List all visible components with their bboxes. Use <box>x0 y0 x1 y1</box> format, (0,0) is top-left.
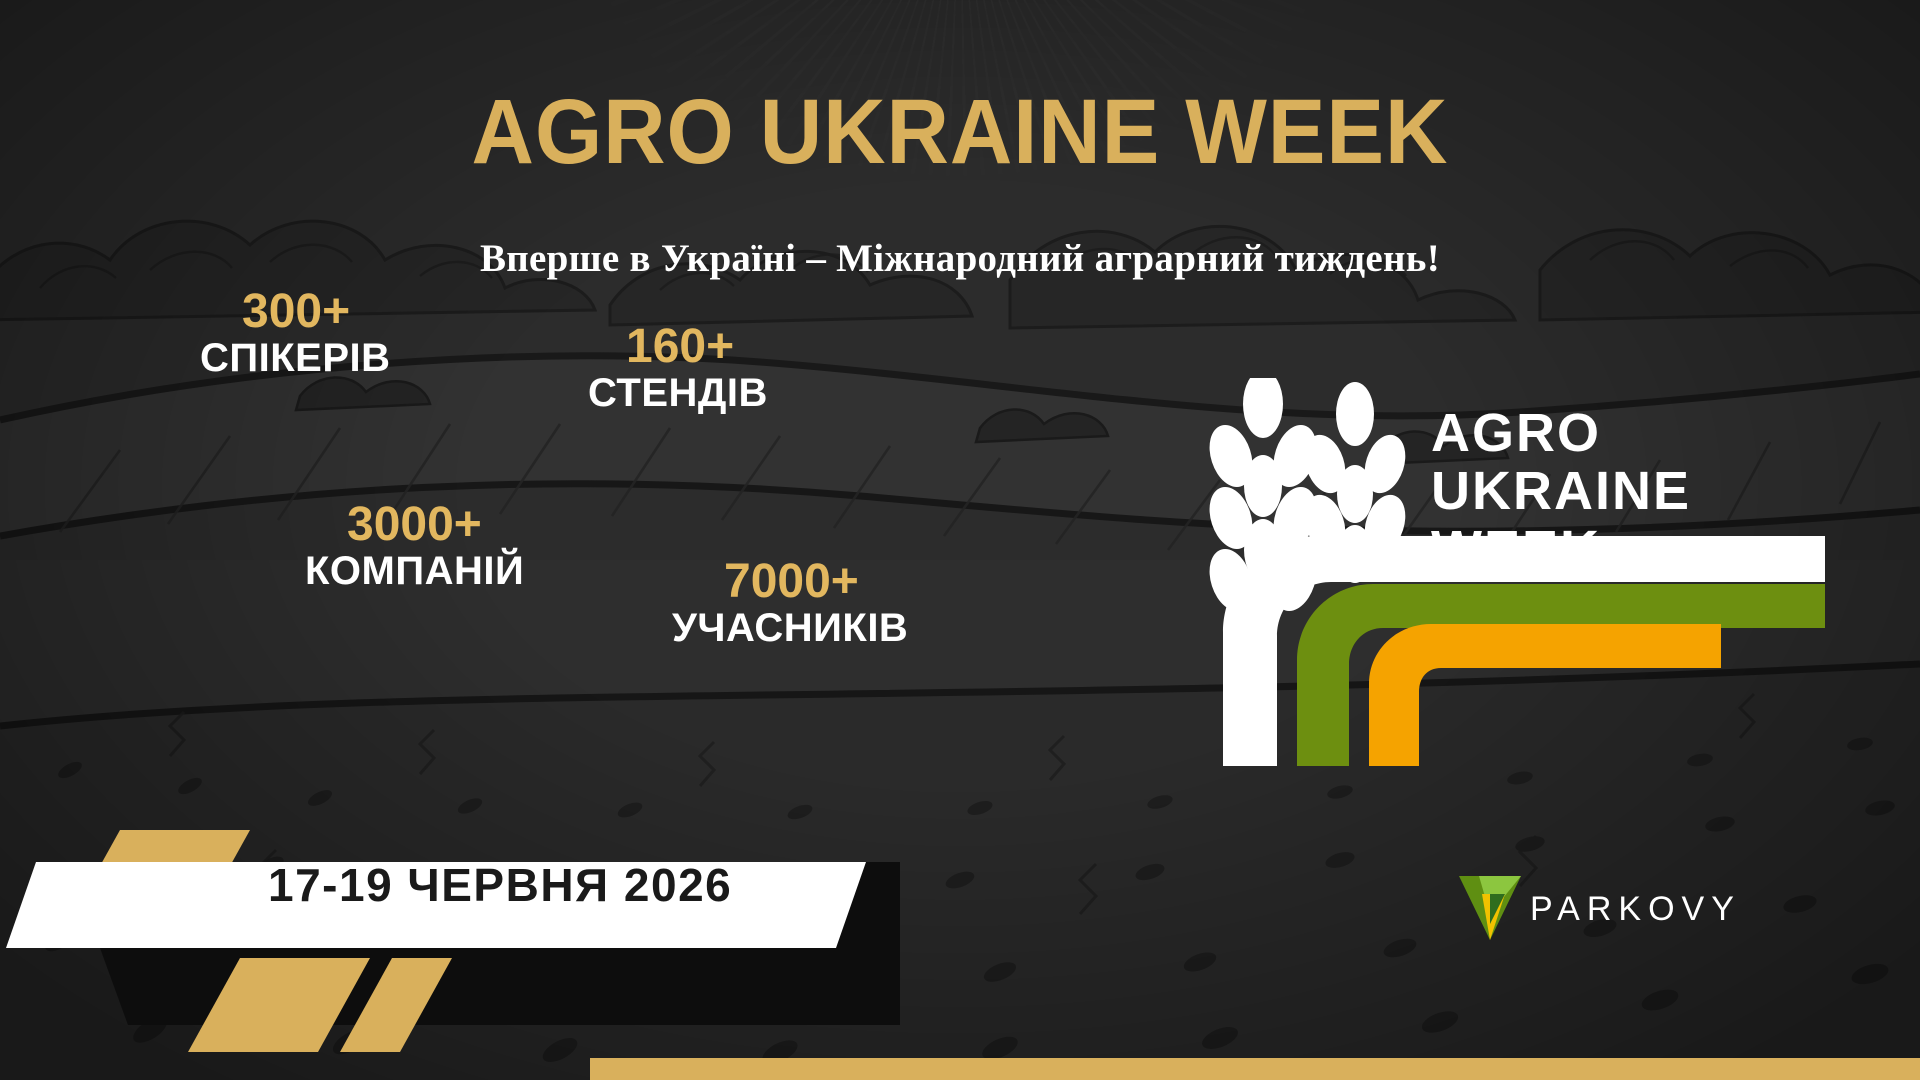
stat-companies: 3000+ КОМПАНІЙ <box>305 500 524 592</box>
logo-wordmark: AGRO UKRAINE WEEK <box>1431 404 1691 579</box>
stat-stands: 160+ СТЕНДІВ <box>588 322 768 414</box>
page-title: AGRO UKRAINE WEEK <box>58 86 1863 178</box>
parkovy-venue-logo: PARKOVY <box>1455 872 1815 952</box>
parkovy-triangle-icon <box>1455 872 1525 944</box>
stat-label: СПІКЕРІВ <box>200 337 391 379</box>
stat-visitors: 7000+ УЧАСНИКІВ <box>672 557 908 649</box>
poster-canvas: AGRO UKRAINE WEEK Вперше в Україні – Між… <box>0 0 1920 1080</box>
stat-label: УЧАСНИКІВ <box>672 607 908 649</box>
logo-line-week: WEEK <box>1431 521 1691 579</box>
agro-ukraine-week-logo: AGRO UKRAINE WEEK <box>1205 378 1825 798</box>
stat-value: 3000+ <box>347 500 524 550</box>
parkovy-wordmark: PARKOVY <box>1530 890 1741 929</box>
stat-label: СТЕНДІВ <box>588 372 768 414</box>
stat-speakers: 300+ СПІКЕРІВ <box>200 287 391 379</box>
logo-line-ukraine: UKRAINE <box>1431 462 1691 520</box>
event-date: 17-19 ЧЕРВНЯ 2026 <box>268 858 732 912</box>
logo-line-agro: AGRO <box>1431 404 1691 462</box>
stat-value: 7000+ <box>724 557 908 607</box>
bottom-gold-bar <box>590 1058 1920 1080</box>
page-subtitle: Вперше в Україні – Міжнародний аграрний … <box>0 238 1920 281</box>
stat-value: 160+ <box>626 322 768 372</box>
stat-label: КОМПАНІЙ <box>305 550 524 592</box>
stat-value: 300+ <box>242 287 391 337</box>
